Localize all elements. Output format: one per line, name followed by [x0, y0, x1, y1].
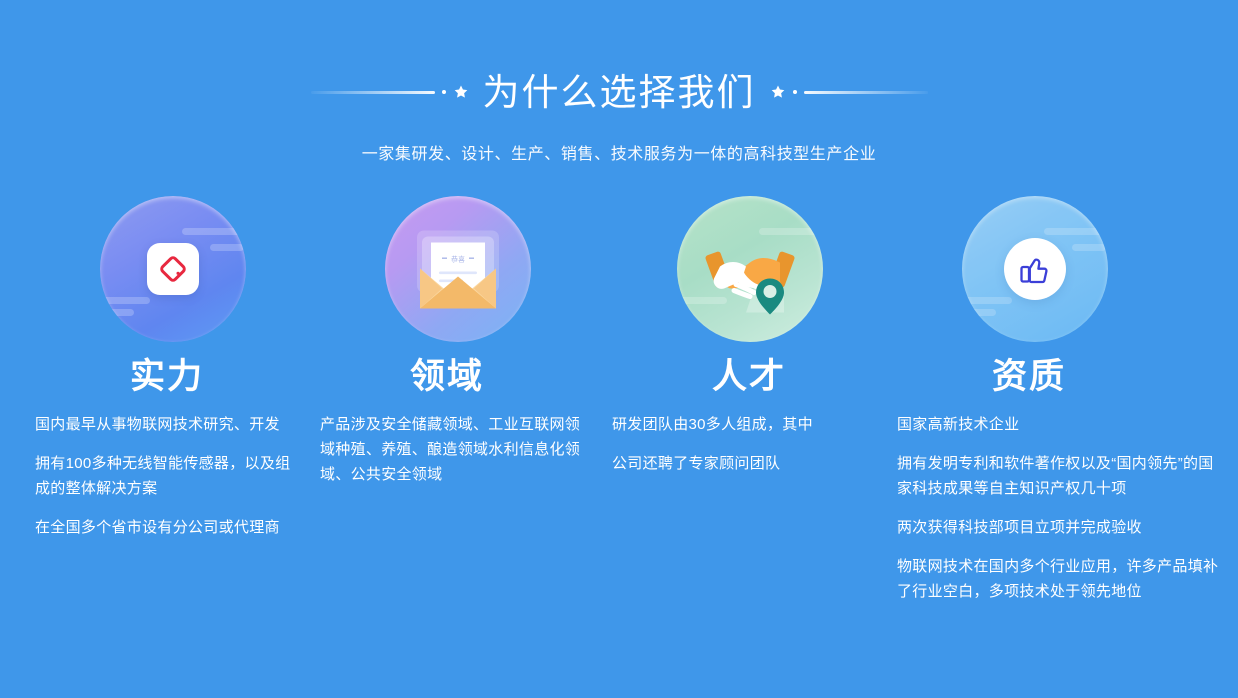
ornament-right	[770, 84, 928, 100]
streak	[1044, 228, 1102, 235]
streak	[108, 309, 134, 316]
envelope-certificate-icon: 恭喜	[402, 217, 514, 317]
why-choose-us-section: 为什么选择我们 一家集研发、设计、生产、销售、技术服务为一体的高科技型生产企业	[0, 0, 1238, 698]
icon-foreground: 恭喜	[402, 217, 514, 322]
streak	[182, 228, 240, 235]
column-bullets: 国家高新技术企业 拥有发明专利和软件著作权以及“国内领先”的国家科技成果等自主知…	[897, 412, 1238, 604]
ornament-line-left	[311, 91, 435, 94]
bullet-item: 拥有100多种无线智能传感器，以及组成的整体解决方案	[35, 451, 296, 501]
icon-foreground	[1004, 238, 1066, 300]
bullet-item: 公司还聘了专家顾问团队	[612, 451, 878, 476]
bullet-item: 在全国多个省市设有分公司或代理商	[35, 515, 296, 540]
feature-column-fields: 恭喜 领域 产品	[310, 196, 600, 604]
bullet-item: 研发团队由30多人组成，其中	[612, 412, 878, 437]
thumbs-up-icon	[1017, 251, 1053, 287]
icon-talent	[677, 196, 823, 342]
white-tile	[147, 243, 199, 295]
feature-column-qualification: 资质 国家高新技术企业 拥有发明专利和软件著作权以及“国内领先”的国家科技成果等…	[892, 196, 1238, 604]
column-bullets: 国内最早从事物联网技术研究、开发 拥有100多种无线智能传感器，以及组成的整体解…	[35, 412, 310, 540]
icon-strength	[100, 196, 246, 342]
certificate-text: 恭喜	[451, 255, 465, 264]
bullet-item: 国家高新技术企业	[897, 412, 1224, 437]
column-heading: 领域	[410, 356, 600, 398]
icon-foreground	[694, 217, 806, 322]
column-heading: 人才	[712, 356, 892, 398]
title-row: 为什么选择我们	[0, 62, 1238, 122]
bullet-item: 两次获得科技部项目立项并完成验收	[897, 515, 1224, 540]
icon-qualification	[962, 196, 1108, 342]
streak	[1072, 244, 1106, 251]
star-icon	[453, 84, 469, 100]
column-bullets: 产品涉及安全储藏领域、工业互联网领域种殖、养殖、酿造领域水利信息化领域、公共安全…	[320, 412, 600, 487]
column-bullets: 研发团队由30多人组成，其中 公司还聘了专家顾问团队	[612, 412, 892, 476]
bullet-item: 物联网技术在国内多个行业应用，许多产品填补了行业空白，多项技术处于领先地位	[897, 554, 1224, 604]
feature-column-strength: 实力 国内最早从事物联网技术研究、开发 拥有100多种无线智能传感器，以及组成的…	[0, 196, 310, 604]
icon-foreground	[147, 243, 199, 295]
streak	[210, 244, 244, 251]
section-header: 为什么选择我们 一家集研发、设计、生产、销售、技术服务为一体的高科技型生产企业	[0, 0, 1238, 164]
page-subtitle: 一家集研发、设计、生产、销售、技术服务为一体的高科技型生产企业	[0, 140, 1238, 164]
icon-fields: 恭喜	[385, 196, 531, 342]
column-heading: 实力	[130, 356, 310, 398]
handshake-location-icon	[694, 217, 806, 317]
white-circle	[1004, 238, 1066, 300]
column-heading: 资质	[992, 356, 1238, 398]
ornament-dot-right	[793, 90, 797, 94]
streak	[100, 297, 150, 304]
ornament-line-right	[804, 91, 928, 94]
red-tag-icon	[158, 254, 188, 284]
bullet-item: 国内最早从事物联网技术研究、开发	[35, 412, 296, 437]
bullet-item: 产品涉及安全储藏领域、工业互联网领域种殖、养殖、酿造领域水利信息化领域、公共安全…	[320, 412, 586, 487]
streak	[970, 309, 996, 316]
feature-column-talent: 人才 研发团队由30多人组成，其中 公司还聘了专家顾问团队	[600, 196, 892, 604]
page-title: 为什么选择我们	[483, 74, 756, 111]
bullet-item: 拥有发明专利和软件著作权以及“国内领先”的国家科技成果等自主知识产权几十项	[897, 451, 1224, 501]
star-icon	[770, 84, 786, 100]
ornament-dot-left	[442, 90, 446, 94]
ornament-left	[311, 84, 469, 100]
feature-columns: 实力 国内最早从事物联网技术研究、开发 拥有100多种无线智能传感器，以及组成的…	[0, 196, 1238, 604]
